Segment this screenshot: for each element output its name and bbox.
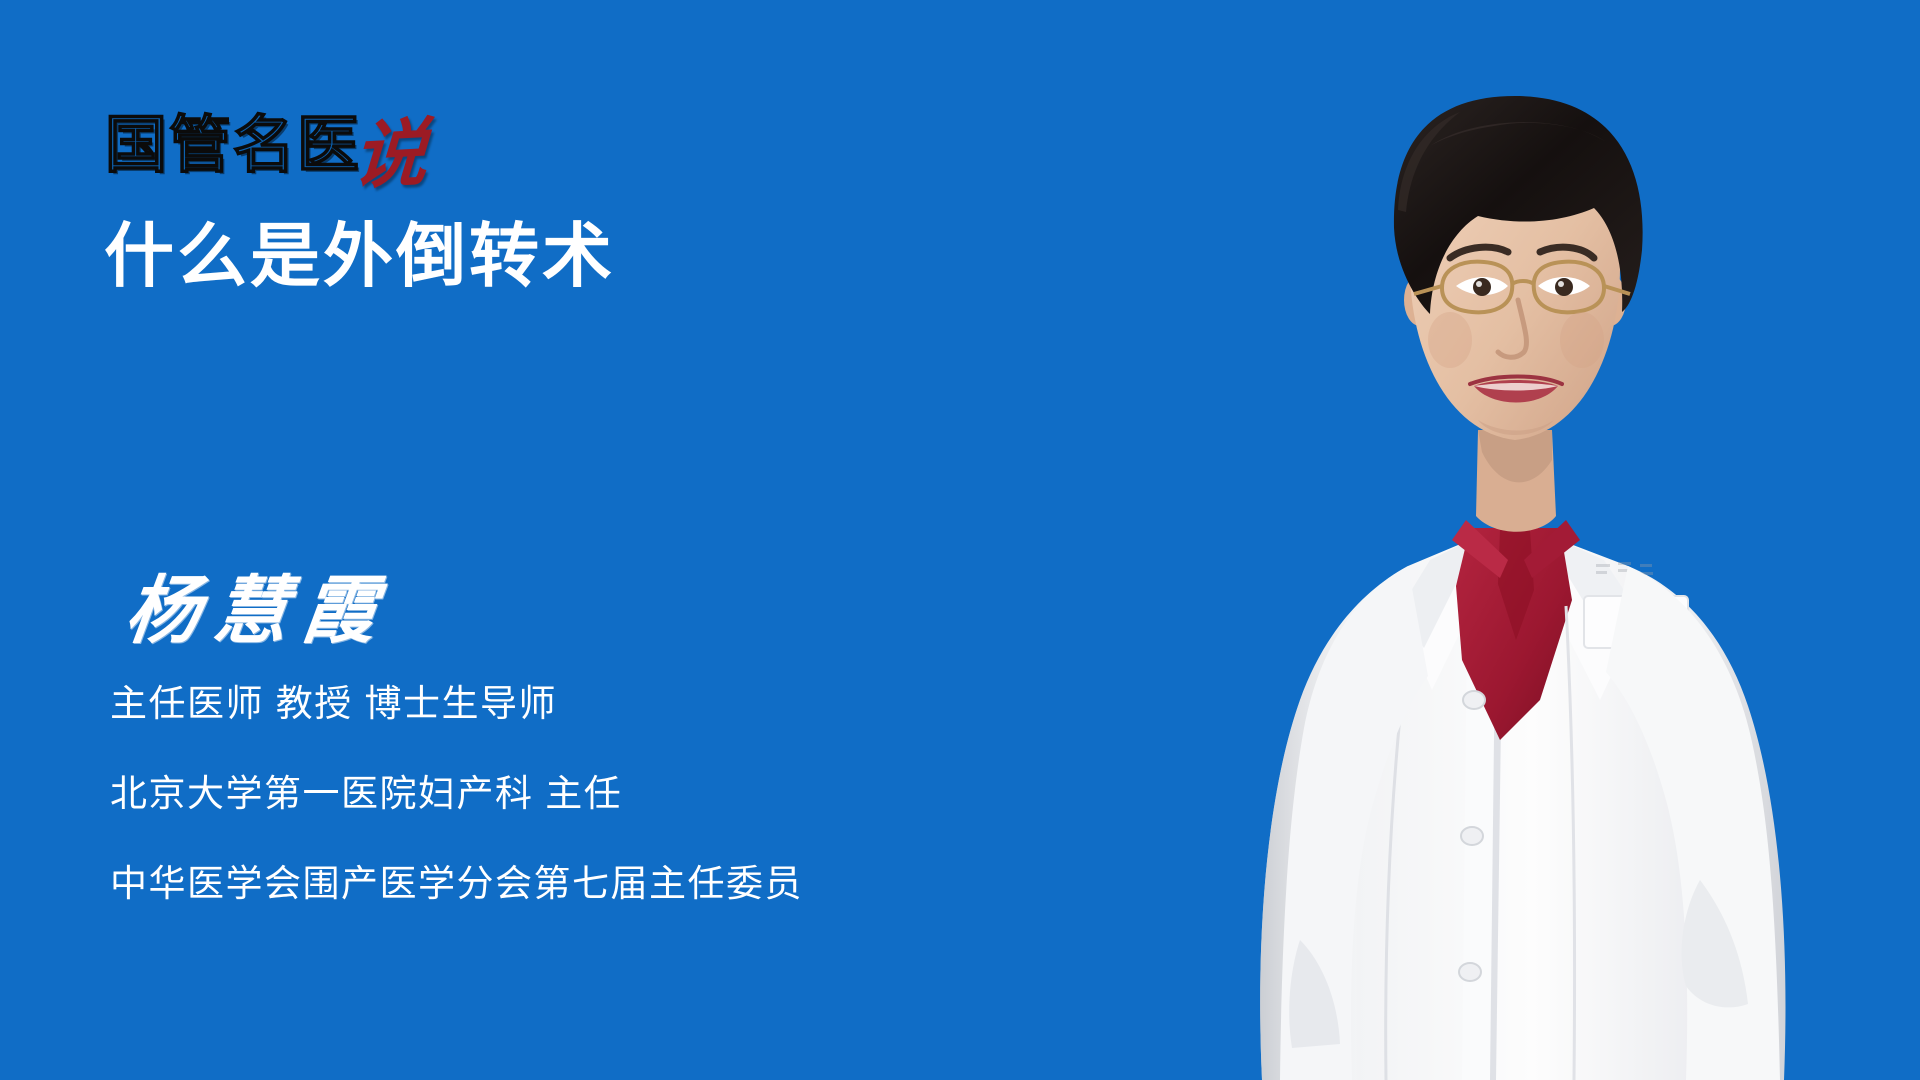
brand-logo: 国管名医 说 xyxy=(105,84,427,176)
brand-logo-main-text: 国管名医 xyxy=(105,114,361,176)
lab-coat xyxy=(1260,520,1785,1080)
speaker-name: 杨慧霞 xyxy=(121,568,396,654)
head xyxy=(1394,96,1643,440)
credential-line: 中华医学会围产医学分会第七届主任委员 xyxy=(110,862,803,906)
credential-line: 北京大学第一医院妇产科 主任 xyxy=(110,772,803,816)
portrait-illustration xyxy=(1000,0,1860,1080)
credential-line: 主任医师 教授 博士生导师 xyxy=(110,682,803,726)
slide-title: 什么是外倒转术 xyxy=(104,216,615,296)
brand-logo-accent-text: 说 xyxy=(351,122,429,188)
neck xyxy=(1476,430,1556,532)
slide-canvas: 国管名医 说 什么是外倒转术 杨慧霞 主任医师 教授 博士生导师 北京大学第一医… xyxy=(0,0,1920,1080)
doctor-portrait-photo xyxy=(1000,0,1860,1080)
speaker-credentials: 主任医师 教授 博士生导师 北京大学第一医院妇产科 主任 中华医学会围产医学分会… xyxy=(110,682,803,906)
